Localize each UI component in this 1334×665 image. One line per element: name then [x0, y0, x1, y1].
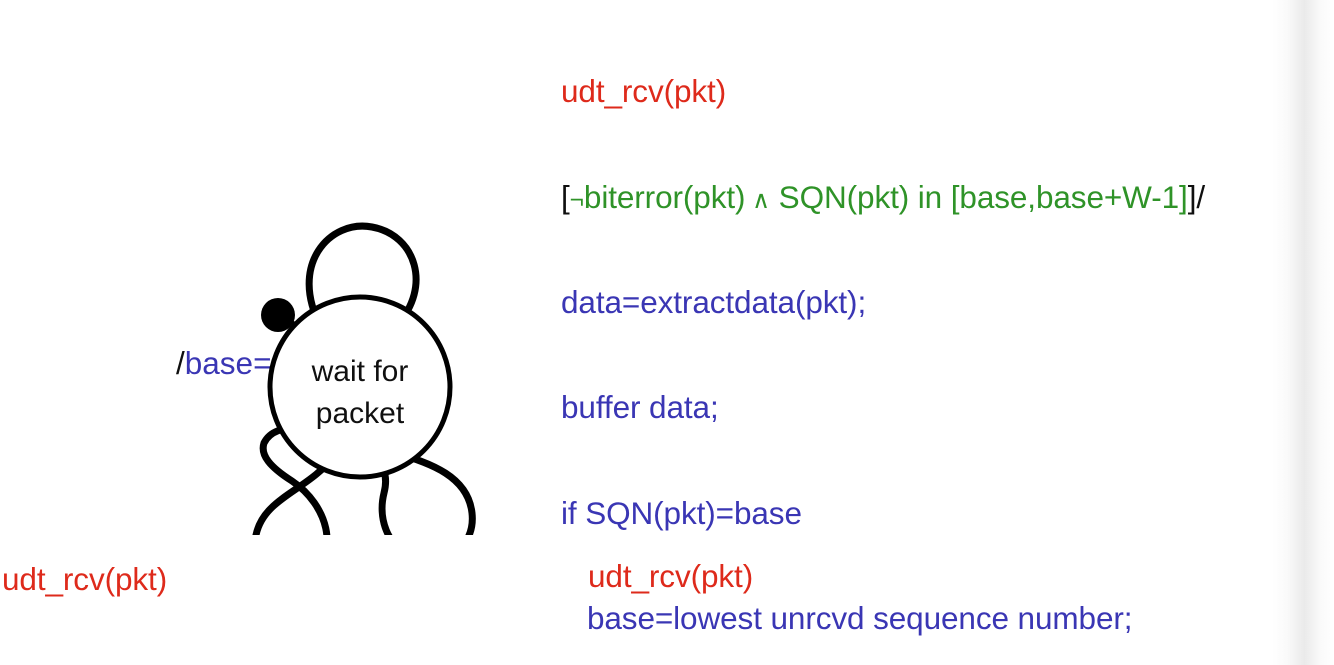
- event-line: udt_rcv(pkt): [2, 562, 527, 597]
- event-line: udt_rcv(pkt): [588, 559, 1223, 594]
- action-line-0: data=extractdata(pkt);: [561, 285, 1205, 320]
- event-line: udt_rcv(pkt): [561, 74, 1205, 109]
- condition-b-prefix: [770, 179, 779, 215]
- slide-canvas: udt_rcv(pkt) [¬biterror(pkt) ∧ SQN(pkt) …: [0, 0, 1334, 665]
- transition-text-below-window: udt_rcv(pkt) [¬biterror(pkt) ∧ SQN(pkt) …: [588, 489, 1223, 665]
- action-slash: /: [1196, 179, 1205, 215]
- slide-edge-shading: [1272, 0, 1334, 665]
- condition-b: SQN(pkt) in [base,base+W-1]: [779, 179, 1188, 215]
- state-label-line-2: packet: [316, 397, 405, 430]
- action-line-1: buffer data;: [561, 390, 1205, 425]
- fsm-diagram: wait for packet: [180, 205, 600, 535]
- condition-line: [¬biterror(pkt) ∧ SQN(pkt) in [base,base…: [561, 180, 1205, 215]
- and-symbol: ∧: [752, 187, 770, 214]
- state-label-line-1: wait for: [311, 355, 409, 388]
- condition-a: biterror(pkt): [584, 179, 745, 215]
